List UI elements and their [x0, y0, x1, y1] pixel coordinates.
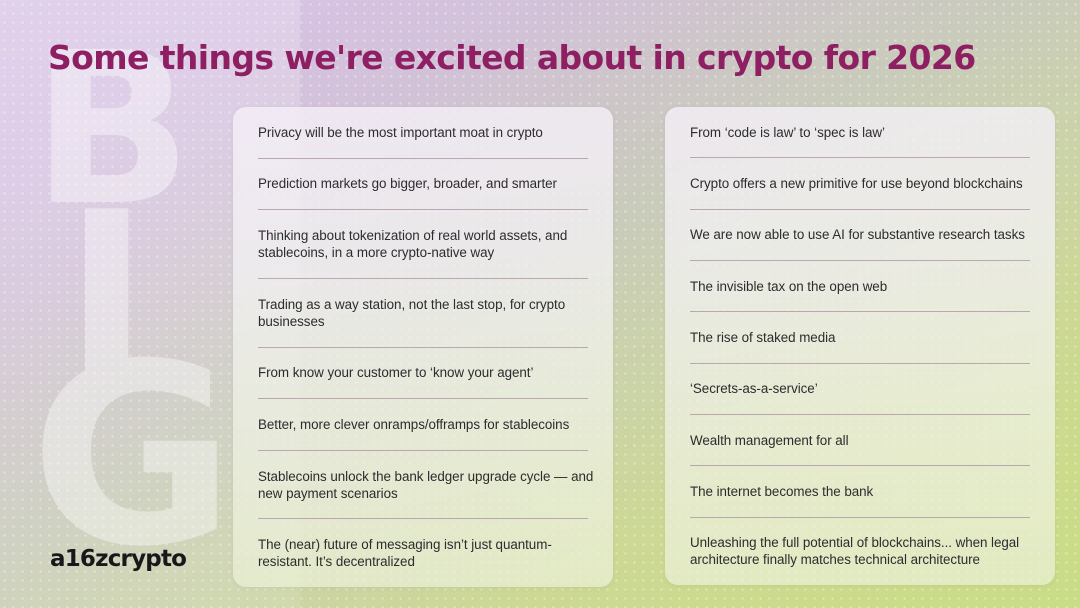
list-divider — [690, 363, 1030, 364]
list-item[interactable]: From ‘code is law’ to ‘spec is law’ — [679, 107, 1041, 157]
list-item[interactable]: The rise of staked media — [679, 312, 1041, 362]
list-item[interactable]: Unleashing the full potential of blockch… — [679, 518, 1041, 585]
list-divider — [690, 465, 1030, 466]
list-item[interactable]: Wealth management for all — [679, 415, 1041, 465]
list-item[interactable]: The (near) future of messaging isn’t jus… — [247, 519, 599, 587]
list-item[interactable]: The invisible tax on the open web — [679, 261, 1041, 311]
list-item[interactable]: We are now able to use AI for substantiv… — [679, 210, 1041, 260]
a16zcrypto-logo: a16zcrypto — [50, 546, 186, 572]
list-divider — [690, 209, 1030, 210]
list-divider — [258, 278, 588, 279]
list-divider — [258, 347, 588, 348]
list-divider — [690, 260, 1030, 261]
list-item[interactable]: The internet becomes the bank — [679, 466, 1041, 516]
list-divider — [258, 398, 588, 399]
list-divider — [690, 311, 1030, 312]
topic-columns: Privacy will be the most important moat … — [0, 0, 1080, 608]
list-divider — [258, 450, 588, 451]
list-divider — [258, 518, 588, 519]
right-column-card: From ‘code is law’ to ‘spec is law’Crypt… — [665, 107, 1055, 585]
right-column-list: From ‘code is law’ to ‘spec is law’Crypt… — [679, 107, 1041, 585]
list-item[interactable]: ‘Secrets-as-a-service’ — [679, 364, 1041, 414]
page-title: Some things we're excited about in crypt… — [48, 38, 976, 77]
list-item[interactable]: Trading as a way station, not the last s… — [247, 279, 599, 347]
list-item[interactable]: Crypto offers a new primitive for use be… — [679, 158, 1041, 208]
list-item[interactable]: Prediction markets go bigger, broader, a… — [247, 159, 599, 210]
list-divider — [690, 517, 1030, 518]
list-divider — [690, 157, 1030, 158]
left-column-card: Privacy will be the most important moat … — [233, 107, 613, 587]
list-divider — [690, 414, 1030, 415]
list-divider — [258, 158, 588, 159]
list-item[interactable]: Better, more clever onramps/offramps for… — [247, 399, 599, 450]
list-item[interactable]: Stablecoins unlock the bank ledger upgra… — [247, 451, 599, 519]
list-item[interactable]: From know your customer to ‘know your ag… — [247, 348, 599, 399]
list-item[interactable]: Privacy will be the most important moat … — [247, 107, 599, 158]
list-divider — [258, 209, 588, 210]
list-item[interactable]: Thinking about tokenization of real worl… — [247, 210, 599, 278]
left-column-list: Privacy will be the most important moat … — [247, 107, 599, 587]
slide-root: B I G Some things we're excited about in… — [0, 0, 1080, 608]
